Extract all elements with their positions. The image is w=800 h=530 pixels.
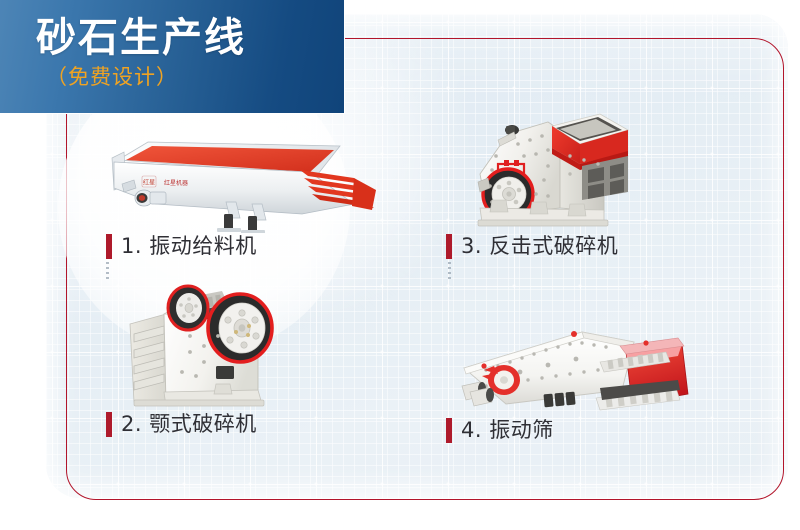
promotional-banner: 红星 红星机器 1. 振动给料机 [0, 0, 800, 530]
header-banner: 砂石生产线 （免费设计） [0, 0, 344, 113]
item-label-text: 2. 颚式破碎机 [121, 411, 257, 437]
vibrating-feeder-illustration: 红星 红星机器 [104, 118, 404, 233]
jaw-crusher-illustration [118, 280, 368, 410]
label-dot-connector-3 [448, 262, 451, 280]
label-dot-connector-1 [106, 262, 109, 280]
item-vibrating-feeder: 红星 红星机器 1. 振动给料机 [104, 118, 404, 233]
item-label-text: 1. 振动给料机 [121, 233, 257, 259]
item-impact-crusher: 3. 反击式破碎机 [452, 108, 702, 233]
item-vibrating-screen: 4. 振动筛 [450, 312, 700, 417]
item-label-text: 4. 振动筛 [461, 417, 554, 443]
item-label-text: 3. 反击式破碎机 [461, 233, 618, 259]
item-label-4: 4. 振动筛 [446, 417, 554, 443]
label-marker-icon [446, 418, 452, 443]
impact-crusher-illustration [452, 108, 702, 233]
svg-text:红星机器: 红星机器 [164, 179, 188, 187]
label-marker-icon [446, 234, 452, 259]
vibrating-screen-illustration [450, 312, 700, 417]
page-title: 砂石生产线 [36, 14, 246, 62]
item-label-1: 1. 振动给料机 [106, 233, 257, 259]
item-label-2: 2. 颚式破碎机 [106, 411, 257, 437]
item-jaw-crusher: 2. 颚式破碎机 [118, 280, 368, 410]
label-marker-icon [106, 412, 112, 437]
label-marker-icon [106, 234, 112, 259]
svg-text:红星: 红星 [143, 179, 155, 187]
page-subtitle: （免费设计） [46, 62, 178, 92]
item-label-3: 3. 反击式破碎机 [446, 233, 618, 259]
